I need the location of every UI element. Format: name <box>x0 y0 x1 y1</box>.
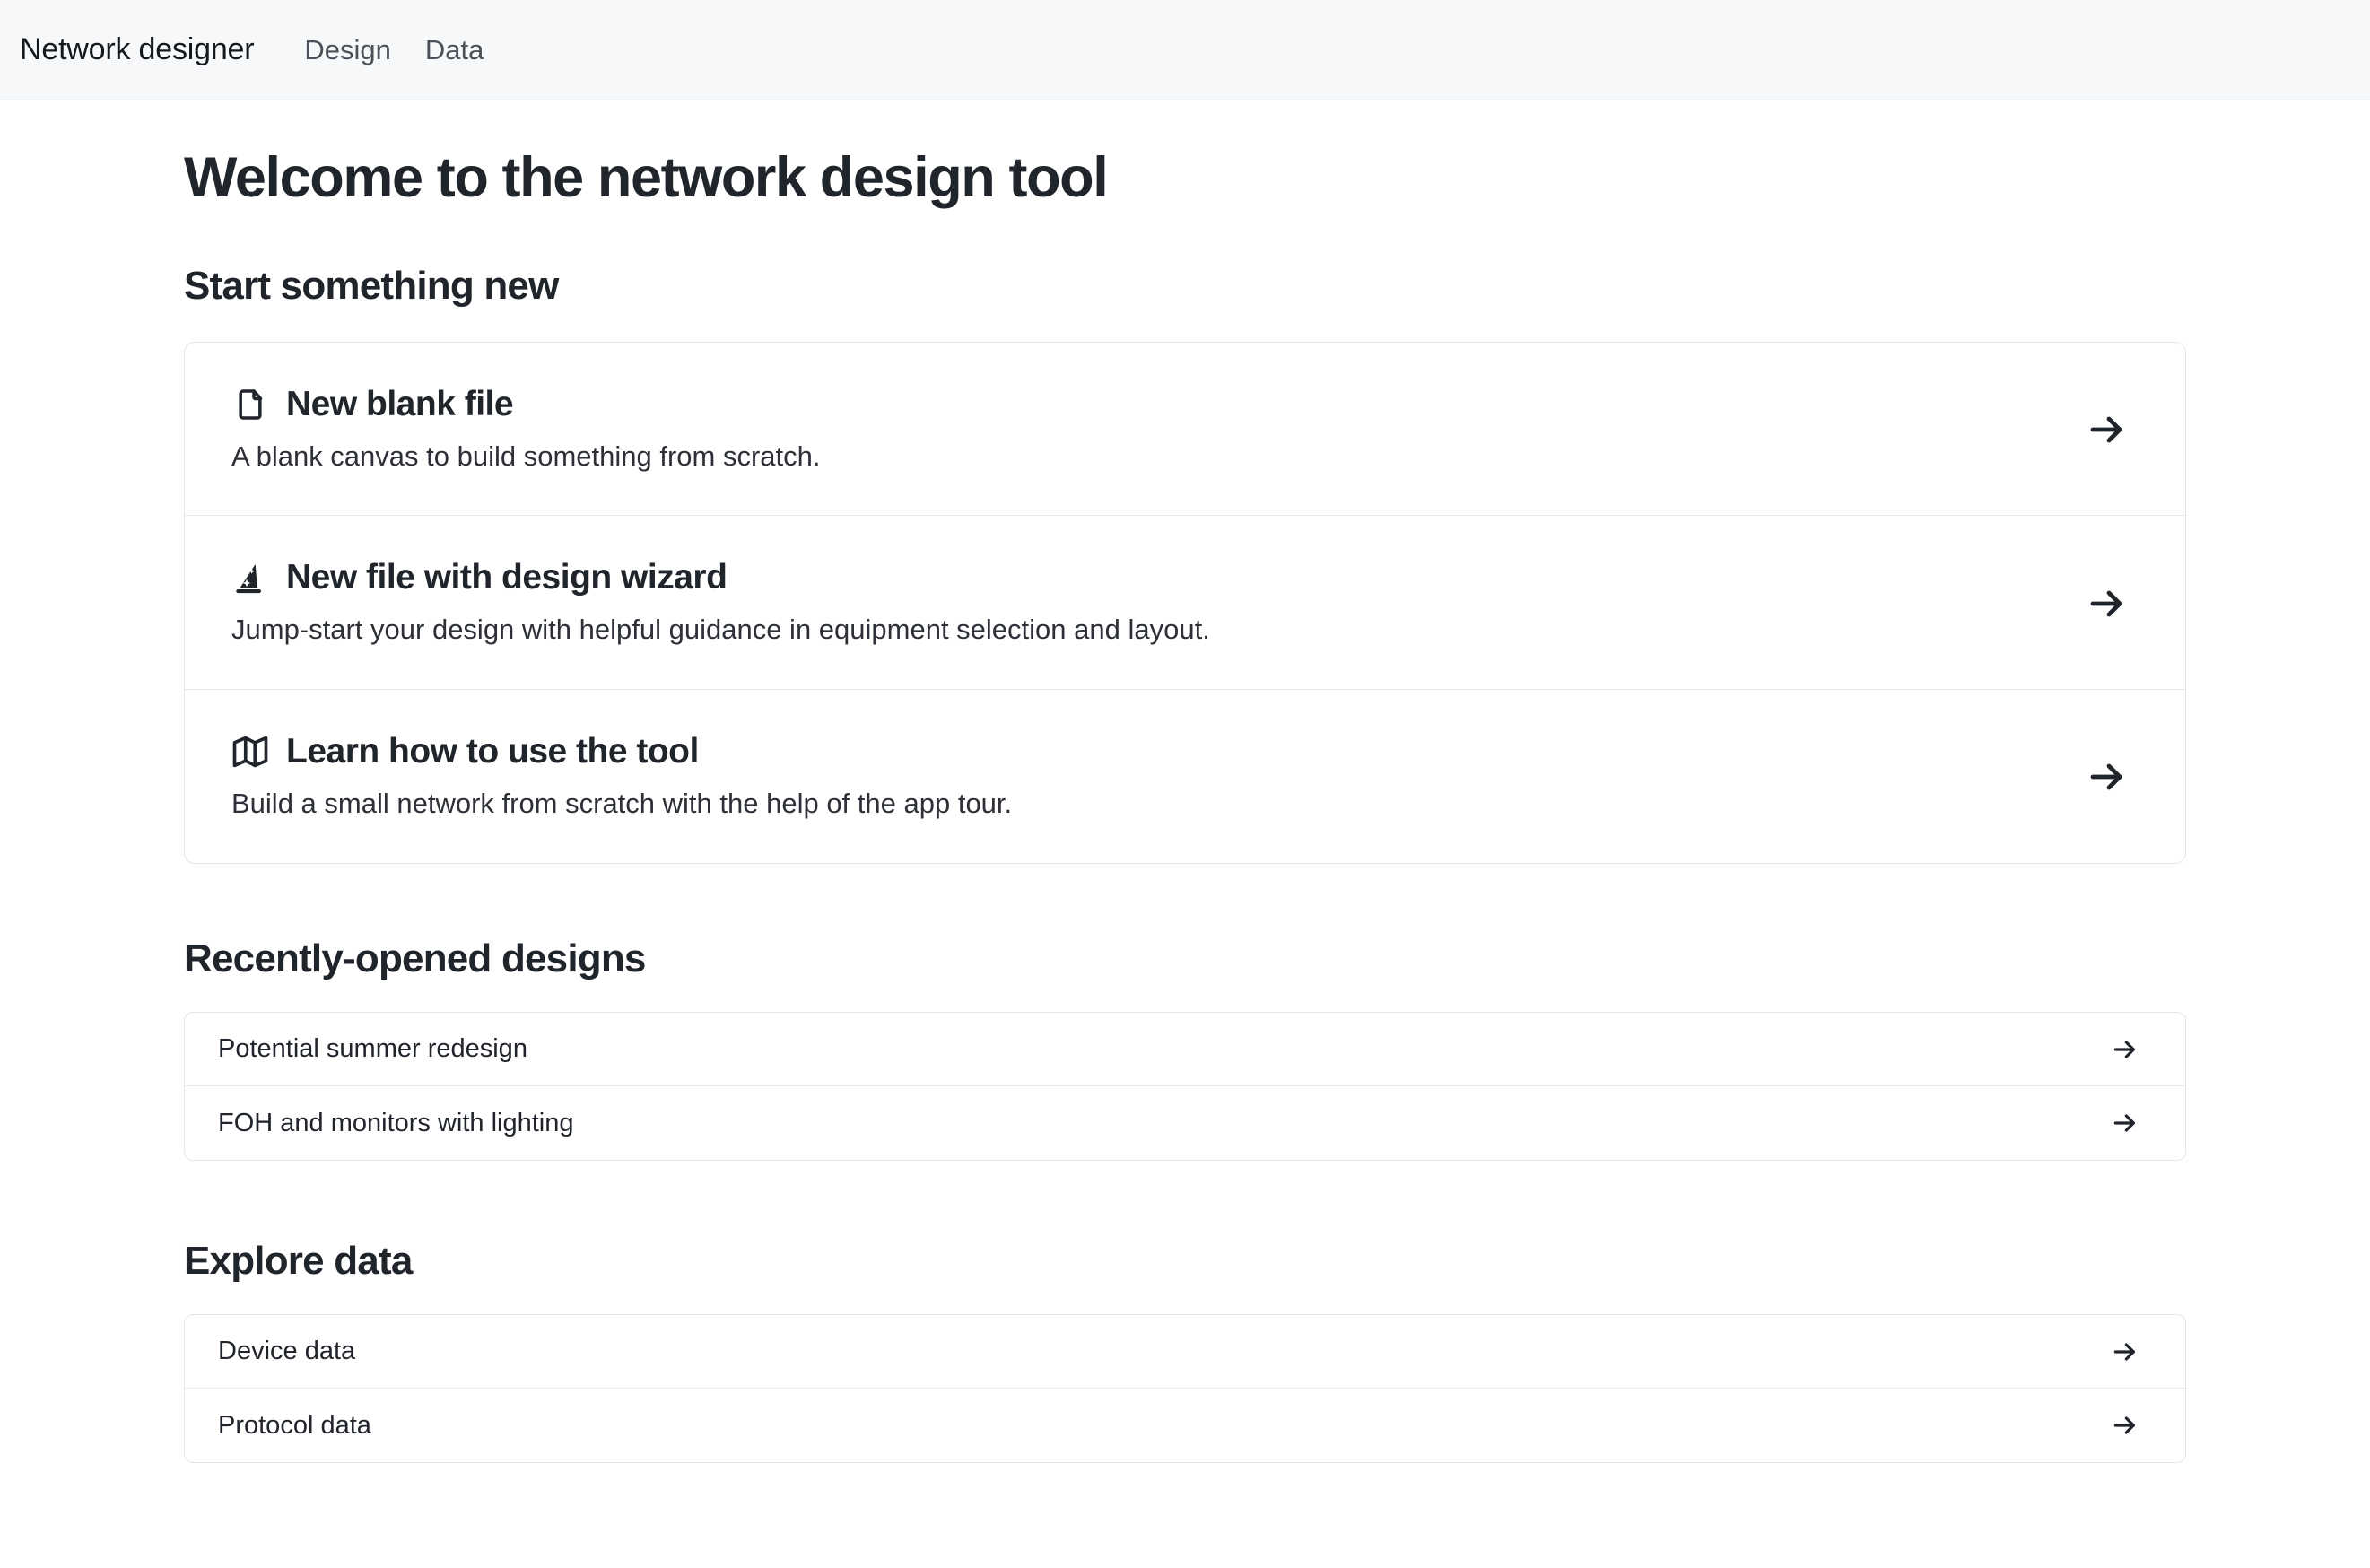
explore-data-list: Device data Protocol data <box>184 1314 2186 1463</box>
card-learn-how-to-use-tool[interactable]: Learn how to use the tool Build a small … <box>185 690 2185 863</box>
arrow-right-icon[interactable] <box>2110 1108 2140 1138</box>
card-heading-row: New blank file <box>231 386 821 424</box>
app-brand-title: Network designer <box>20 32 254 67</box>
arrow-right-icon[interactable] <box>2110 1410 2140 1441</box>
arrow-right-icon[interactable] <box>2110 1337 2140 1367</box>
section-title-recently-opened: Recently-opened designs <box>184 937 2186 980</box>
card-text-block: New blank file A blank canvas to build s… <box>231 386 821 475</box>
arrow-right-icon[interactable] <box>2083 753 2131 801</box>
card-heading-row: New file with design wizard <box>231 559 1210 597</box>
card-text-block: New file with design wizard Jump-start y… <box>231 559 1210 648</box>
card-description: Jump-start your design with helpful guid… <box>231 613 1210 648</box>
card-title: New file with design wizard <box>286 559 727 597</box>
content-container: Welcome to the network design tool Start… <box>184 147 2186 1463</box>
card-text-block: Learn how to use the tool Build a small … <box>231 733 1012 822</box>
list-item[interactable]: Device data <box>185 1315 2185 1389</box>
list-item-label: FOH and monitors with lighting <box>218 1109 574 1138</box>
card-description: A blank canvas to build something from s… <box>231 440 821 475</box>
list-item-label: Device data <box>218 1337 355 1366</box>
file-icon <box>231 386 269 423</box>
map-icon <box>231 733 269 771</box>
section-title-explore-data: Explore data <box>184 1240 2186 1283</box>
card-description: Build a small network from scratch with … <box>231 787 1012 822</box>
list-item-label: Protocol data <box>218 1411 371 1441</box>
arrow-right-icon[interactable] <box>2083 579 2131 628</box>
list-item-label: Potential summer redesign <box>218 1034 527 1064</box>
nav-link-data[interactable]: Data <box>425 34 484 66</box>
card-heading-row: Learn how to use the tool <box>231 733 1012 771</box>
nav-links: Design Data <box>304 34 484 66</box>
list-item[interactable]: FOH and monitors with lighting <box>185 1086 2185 1160</box>
arrow-right-icon[interactable] <box>2110 1034 2140 1065</box>
card-new-blank-file[interactable]: New blank file A blank canvas to build s… <box>185 343 2185 517</box>
recently-opened-list: Potential summer redesign FOH and monito… <box>184 1012 2186 1161</box>
card-title: Learn how to use the tool <box>286 733 699 771</box>
start-options-card-group: New blank file A blank canvas to build s… <box>184 342 2186 864</box>
card-title: New blank file <box>286 386 513 424</box>
page-content: Welcome to the network design tool Start… <box>0 147 2370 1463</box>
list-item[interactable]: Protocol data <box>185 1389 2185 1462</box>
arrow-right-icon[interactable] <box>2083 405 2131 454</box>
card-new-file-design-wizard[interactable]: New file with design wizard Jump-start y… <box>185 516 2185 690</box>
wizard-hat-icon <box>231 560 269 597</box>
nav-link-design[interactable]: Design <box>304 34 391 66</box>
section-title-start: Start something new <box>184 265 2186 308</box>
page-title: Welcome to the network design tool <box>184 147 2186 209</box>
top-navigation-bar: Network designer Design Data <box>0 0 2370 100</box>
list-item[interactable]: Potential summer redesign <box>185 1013 2185 1086</box>
